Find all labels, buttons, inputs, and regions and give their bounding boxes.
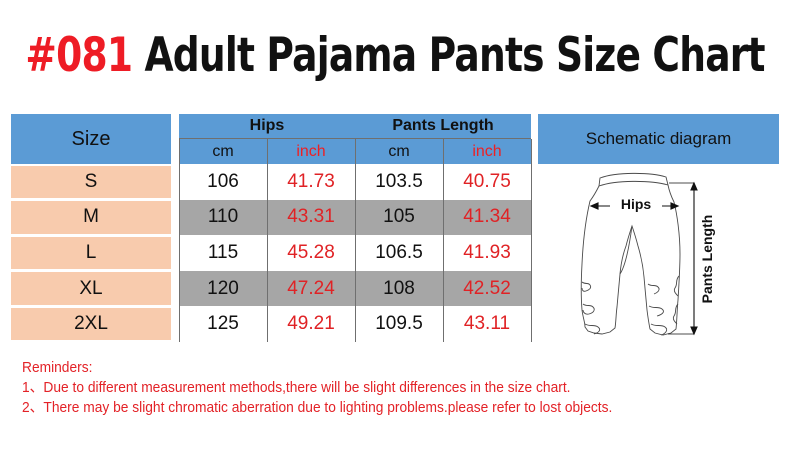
hips-label: Hips	[621, 196, 652, 212]
grid-line	[355, 139, 356, 342]
table-header: Size Hips Pants Length cm inch cm inch S…	[11, 114, 779, 164]
title-main-text: Adult Pajama Pants Size Chart	[132, 28, 764, 83]
cell-hips-cm: 106	[179, 164, 267, 200]
grid-line	[531, 139, 532, 342]
cell-length-cm: 108	[355, 271, 443, 307]
grid-line	[443, 139, 444, 342]
cell-length-inch: 43.11	[443, 306, 531, 342]
reminders-block: Reminders: 1、Due to different measuremen…	[22, 358, 772, 418]
header-group-hips: Hips	[179, 114, 355, 139]
size-chart-page: #081 Adult Pajama Pants Size Chart Size …	[0, 0, 790, 450]
page-title: #081 Adult Pajama Pants Size Chart	[0, 22, 790, 88]
header-unit-hips-cm: cm	[179, 139, 267, 164]
grid-line	[267, 139, 268, 342]
header-unit-length-inch: inch	[443, 139, 531, 164]
header-group-row: Hips Pants Length	[179, 114, 531, 139]
reminder-line-1: 1、Due to different measurement methods,t…	[22, 378, 735, 398]
schematic-diagram: Hips Pants Length	[538, 164, 768, 342]
reminders-heading: Reminders:	[22, 358, 735, 378]
title-product-code: #081	[25, 28, 132, 83]
cell-length-inch: 40.75	[443, 164, 531, 200]
cell-length-cm: 106.5	[355, 235, 443, 271]
cell-hips-cm: 115	[179, 235, 267, 271]
header-unit-length-cm: cm	[355, 139, 443, 164]
header-schematic-diagram: Schematic diagram	[538, 114, 779, 164]
row-size-label: 2XL	[11, 308, 171, 341]
cell-hips-inch: 41.73	[267, 164, 355, 200]
grid-line	[179, 139, 180, 342]
row-size-label: L	[11, 237, 171, 270]
cell-length-cm: 105	[355, 200, 443, 236]
cell-length-cm: 109.5	[355, 306, 443, 342]
cell-hips-inch: 45.28	[267, 235, 355, 271]
row-size-label: XL	[11, 272, 171, 305]
cell-length-inch: 42.52	[443, 271, 531, 307]
cell-hips-inch: 49.21	[267, 306, 355, 342]
header-size: Size	[11, 114, 171, 164]
cell-hips-cm: 120	[179, 271, 267, 307]
cell-hips-cm: 110	[179, 200, 267, 236]
cell-hips-cm: 125	[179, 306, 267, 342]
row-size-label: M	[11, 201, 171, 234]
cell-hips-inch: 43.31	[267, 200, 355, 236]
header-unit-hips-inch: inch	[267, 139, 355, 164]
pants-length-label: Pants Length	[699, 215, 715, 304]
cell-hips-inch: 47.24	[267, 271, 355, 307]
reminder-line-2: 2、There may be slight chromatic aberrati…	[22, 398, 735, 418]
header-group-pants-length: Pants Length	[355, 114, 531, 139]
cell-length-inch: 41.34	[443, 200, 531, 236]
cell-length-inch: 41.93	[443, 235, 531, 271]
cell-length-cm: 103.5	[355, 164, 443, 200]
row-size-label: S	[11, 166, 171, 199]
